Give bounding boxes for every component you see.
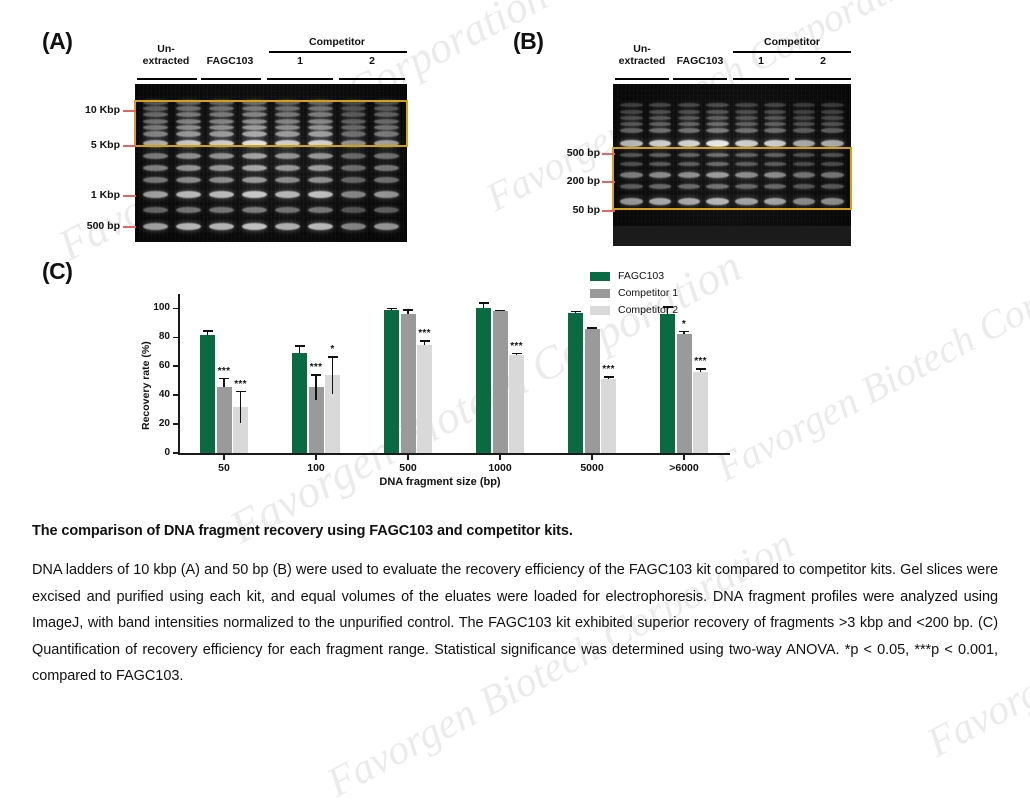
gel-b-header-competitor-1: 1: [731, 56, 791, 68]
gel-a-header-competitor-2: 2: [337, 56, 407, 68]
chart-error-cap: [420, 340, 430, 342]
gel-band: [735, 116, 757, 120]
gel-band: [308, 165, 334, 171]
chart-significance-marker: ***: [227, 379, 255, 390]
header-line-1: FAGC103: [671, 56, 729, 68]
chart-error-cap: [696, 368, 706, 370]
gel-b-rule-competitor-2: [795, 78, 851, 80]
gel-band: [176, 153, 202, 159]
legend-item-competitor-2: Competitor 2: [590, 302, 740, 319]
chart-error-cap: [571, 311, 581, 313]
chart-bar: [660, 314, 675, 453]
gel-band: [308, 191, 334, 198]
gel-band: [620, 110, 642, 114]
gel-b-marker-50bp: 50 bp: [538, 204, 600, 216]
gel-a-header-fagc103: FAGC103: [199, 56, 261, 68]
chart-bar: [476, 308, 491, 453]
gel-b-competitor-label: Competitor: [731, 36, 853, 48]
gel-band: [706, 128, 728, 133]
chart-error-bar: [332, 375, 334, 394]
gel-band: [176, 165, 202, 171]
panel-b-letter: (B): [513, 28, 543, 55]
gel-band: [143, 191, 169, 198]
chart-bar: [200, 335, 215, 453]
gel-a-header-competitor-1: 1: [265, 56, 335, 68]
panel-c-letter: (C): [42, 258, 72, 285]
recovery-bar-chart: 02040608010050******100****500***1000***…: [130, 280, 750, 495]
gel-b-rule-competitor-1: [733, 78, 789, 80]
chart-y-tick: [173, 337, 178, 339]
chart-y-axis-label: Recovery rate (%): [140, 341, 152, 430]
gel-band: [735, 110, 757, 114]
chart-bar: [568, 313, 583, 453]
chart-y-tick: [173, 308, 178, 310]
gel-band: [308, 207, 334, 213]
gel-band: [793, 116, 815, 120]
gel-band: [176, 207, 202, 213]
gel-a-rule-competitor-1: [267, 78, 333, 80]
gel-band: [176, 223, 202, 230]
gel-a-marker-5kbp: 5 Kbp: [58, 139, 120, 151]
gel-a-marker-10kbp: 10 Kbp: [58, 104, 120, 116]
gel-band: [821, 116, 843, 120]
chart-bar: [417, 345, 432, 453]
gel-band: [242, 153, 268, 159]
chart-bar: [601, 379, 616, 453]
chart-x-tick: [223, 455, 225, 460]
chart-x-tick: [683, 455, 685, 460]
gel-band: [275, 177, 301, 183]
chart-x-tick: [591, 455, 593, 460]
gel-band: [209, 153, 235, 159]
gel-band: [735, 128, 757, 133]
gel-a-header: Un- extracted FAGC103 Competitor 1 2: [135, 34, 410, 80]
chart-x-tick-label: >6000: [649, 462, 719, 474]
gel-band: [620, 128, 642, 133]
header-line-1: 2: [793, 56, 853, 68]
gel-b-header: Un- extracted FAGC103 Competitor 1 2: [613, 34, 853, 80]
gel-b-rule-unextracted: [615, 78, 669, 80]
gel-a-highlight-box: [134, 100, 408, 147]
gel-band: [620, 122, 642, 126]
header-line-1: 2: [337, 56, 407, 68]
gel-band: [242, 165, 268, 171]
gel-band: [764, 122, 786, 126]
chart-x-tick: [499, 455, 501, 460]
gel-band: [341, 153, 367, 159]
chart-error-cap: [328, 356, 338, 358]
gel-band: [706, 122, 728, 126]
gel-a-marker-dash: [123, 110, 136, 112]
gel-band: [649, 103, 671, 107]
chart-error-cap: [512, 353, 522, 355]
gel-a-marker-1kbp: 1 Kbp: [58, 189, 120, 201]
chart-error-cap: [604, 376, 614, 378]
gel-b-marker-dash: [602, 181, 615, 183]
gel-band: [821, 103, 843, 107]
chart-significance-marker: ***: [411, 328, 439, 339]
gel-band: [275, 165, 301, 171]
gel-band: [176, 177, 202, 183]
chart-y-tick: [173, 394, 178, 396]
gel-band: [678, 103, 700, 107]
gel-band: [793, 122, 815, 126]
gel-a-rule-unextracted: [137, 78, 197, 80]
figure-root: Favorgen Biotech Corporation Favorgen Bi…: [0, 0, 1030, 755]
legend-item-competitor-1: Competitor 1: [590, 285, 740, 302]
chart-x-tick-label: 1000: [465, 462, 535, 474]
gel-b-competitor-top-rule: [733, 51, 851, 53]
gel-band: [764, 110, 786, 114]
chart-error-cap: [495, 310, 505, 312]
gel-a-marker-dash: [123, 226, 136, 228]
chart-significance-marker: ***: [503, 341, 531, 352]
chart-bar: [217, 387, 232, 453]
gel-b-header-unextracted: Un- extracted: [613, 44, 671, 67]
chart-x-tick-label: 500: [373, 462, 443, 474]
gel-band: [209, 207, 235, 213]
gel-b-header-competitor-2: 2: [793, 56, 853, 68]
gel-band: [374, 191, 400, 198]
chart-bar: [693, 372, 708, 453]
chart-bar: [585, 329, 600, 453]
header-line-1: FAGC103: [199, 56, 261, 68]
chart-x-tick: [407, 455, 409, 460]
chart-error-cap: [311, 374, 321, 376]
gel-band: [678, 110, 700, 114]
gel-band: [242, 177, 268, 183]
chart-x-tick-label: 5000: [557, 462, 627, 474]
gel-band: [735, 103, 757, 107]
gel-band: [341, 207, 367, 213]
gel-band: [341, 191, 367, 198]
gel-band: [374, 153, 400, 159]
header-line-1: Un-: [613, 44, 671, 56]
gel-band: [374, 165, 400, 171]
legend-item-fagc103: FAGC103: [590, 268, 740, 285]
header-line-1: 1: [731, 56, 791, 68]
chart-error-bar: [332, 356, 334, 375]
chart-x-tick: [315, 455, 317, 460]
gel-band: [649, 122, 671, 126]
chart-x-tick-label: 100: [281, 462, 351, 474]
chart-bar: [509, 355, 524, 453]
gel-b-footer-band: [613, 226, 851, 246]
gel-a-marker-dash: [123, 195, 136, 197]
gel-band: [620, 116, 642, 120]
gel-band: [821, 128, 843, 133]
chart-significance-marker: *: [670, 319, 698, 330]
gel-band: [649, 116, 671, 120]
gel-b-rule-fagc103: [673, 78, 727, 80]
gel-band: [821, 110, 843, 114]
gel-band: [275, 207, 301, 213]
gel-band: [176, 191, 202, 198]
gel-band: [242, 223, 268, 230]
gel-band: [793, 110, 815, 114]
watermark: Favorgen Biotech Corporation: [708, 216, 1030, 490]
header-line-1: Un-: [135, 44, 197, 56]
gel-band: [209, 177, 235, 183]
header-line-1: 1: [265, 56, 335, 68]
gel-band: [764, 116, 786, 120]
chart-significance-marker: ***: [687, 356, 715, 367]
chart-error-cap: [387, 308, 397, 310]
chart-error-cap: [587, 327, 597, 329]
gel-band: [209, 223, 235, 230]
chart-y-axis: [178, 294, 180, 453]
gel-a-competitor-top-rule: [269, 51, 407, 53]
chart-x-axis-label: DNA fragment size (bp): [130, 476, 750, 488]
gel-band: [620, 103, 642, 107]
legend-swatch-competitor-1: [590, 289, 610, 298]
gel-band: [678, 128, 700, 133]
chart-error-cap: [203, 330, 213, 332]
gel-band: [242, 191, 268, 198]
header-line-2: extracted: [135, 56, 197, 68]
gel-band: [242, 207, 268, 213]
gel-a-marker-500bp: 500 bp: [58, 220, 120, 232]
chart-significance-marker: ***: [210, 366, 238, 377]
gel-band: [341, 165, 367, 171]
chart-bar: [493, 311, 508, 453]
gel-a-rule-fagc103: [201, 78, 261, 80]
gel-b-marker-dash: [602, 210, 615, 212]
chart-error-bar: [240, 407, 242, 423]
chart-y-tick: [173, 423, 178, 425]
panel-a-letter: (A): [42, 28, 72, 55]
chart-x-axis: [178, 453, 730, 455]
chart-x-tick-label: 50: [189, 462, 259, 474]
legend-swatch-competitor-2: [590, 306, 610, 315]
chart-error-cap: [236, 391, 246, 393]
gel-b-header-fagc103: FAGC103: [671, 56, 729, 68]
gel-band: [374, 207, 400, 213]
gel-band: [275, 223, 301, 230]
caption-body: DNA ladders of 10 kbp (A) and 50 bp (B) …: [32, 557, 998, 690]
gel-a-header-unextracted: Un- extracted: [135, 44, 197, 67]
gel-band: [308, 153, 334, 159]
gel-a-competitor-label: Competitor: [265, 36, 409, 48]
gel-band: [649, 110, 671, 114]
gel-band: [341, 223, 367, 230]
gel-band: [143, 153, 169, 159]
gel-a-marker-dash: [123, 145, 136, 147]
gel-b-marker-200bp: 200 bp: [538, 175, 600, 187]
legend-label-fagc103: FAGC103: [618, 268, 664, 285]
gel-b-marker-dash: [602, 153, 615, 155]
gel-band: [341, 177, 367, 183]
gel-band: [735, 122, 757, 126]
gel-band: [793, 103, 815, 107]
gel-a-rule-competitor-2: [339, 78, 405, 80]
chart-y-tick-label: 0: [142, 447, 170, 458]
gel-band: [764, 128, 786, 133]
chart-error-bar: [240, 391, 242, 407]
chart-y-tick: [173, 365, 178, 367]
chart-error-bar: [315, 374, 317, 387]
chart-y-tick: [173, 452, 178, 454]
gel-band: [706, 116, 728, 120]
gel-b-marker-500bp: 500 bp: [538, 147, 600, 159]
legend-swatch-fagc103: [590, 272, 610, 281]
chart-error-cap: [679, 331, 689, 333]
gel-b-highlight-box: [612, 147, 852, 210]
gel-band: [649, 128, 671, 133]
gel-band: [308, 177, 334, 183]
gel-band: [143, 223, 169, 230]
gel-band: [209, 165, 235, 171]
gel-band: [275, 191, 301, 198]
gel-band: [143, 165, 169, 171]
header-line-2: extracted: [613, 56, 671, 68]
gel-band: [275, 153, 301, 159]
gel-band: [143, 177, 169, 183]
chart-legend: FAGC103 Competitor 1 Competitor 2: [590, 268, 740, 319]
gel-band: [821, 122, 843, 126]
gel-band: [374, 177, 400, 183]
gel-band: [678, 122, 700, 126]
gel-band: [374, 223, 400, 230]
gel-band: [143, 207, 169, 213]
chart-error-cap: [479, 302, 489, 304]
gel-band: [706, 110, 728, 114]
chart-significance-marker: ***: [595, 364, 623, 375]
chart-bar: [677, 334, 692, 453]
gel-panel-a: Un- extracted FAGC103 Competitor 1 2: [135, 34, 410, 244]
chart-significance-marker: *: [319, 344, 347, 355]
gel-panel-b: Un- extracted FAGC103 Competitor 1 2: [613, 34, 853, 246]
caption-title: The comparison of DNA fragment recovery …: [32, 523, 998, 539]
gel-band: [308, 223, 334, 230]
gel-band: [209, 191, 235, 198]
legend-label-competitor-1: Competitor 1: [618, 285, 678, 302]
legend-label-competitor-2: Competitor 2: [618, 302, 678, 319]
gel-band: [706, 103, 728, 107]
chart-error-bar: [315, 387, 317, 400]
chart-error-cap: [295, 345, 305, 347]
chart-significance-marker: ***: [302, 362, 330, 373]
chart-bar: [384, 310, 399, 453]
chart-y-tick-label: 100: [142, 302, 170, 313]
gel-band: [678, 116, 700, 120]
gel-band: [793, 128, 815, 133]
gel-band: [764, 103, 786, 107]
chart-error-cap: [403, 309, 413, 311]
